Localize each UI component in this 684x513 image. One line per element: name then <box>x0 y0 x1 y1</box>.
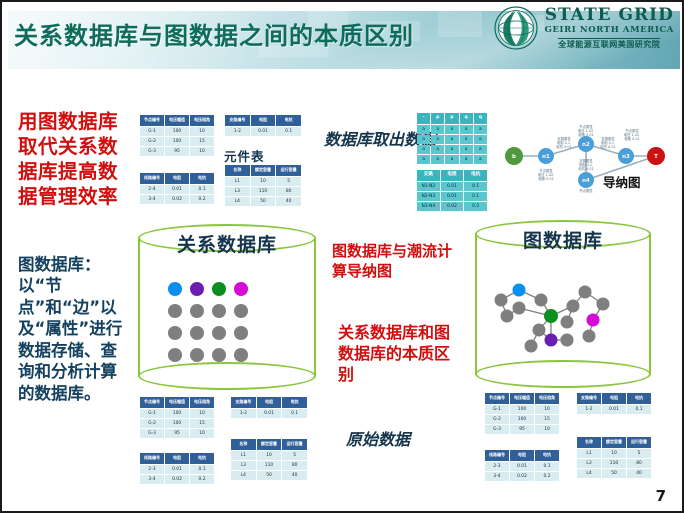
table-row: G-110010 <box>140 409 214 418</box>
table-bottom-left-branch-table: 线路编号电阻电抗2-30.010.13-40.020.2 <box>139 452 215 485</box>
table-cell: L3 <box>231 461 256 470</box>
table-cell: G-1 <box>140 127 164 136</box>
brand-division: GEIRI NORTH AMERICA <box>545 26 674 35</box>
table-cell: 10 <box>251 177 276 186</box>
table-row: L311080 <box>577 459 651 468</box>
table-header-cell: 额定容量 <box>602 437 626 448</box>
table-cell: a <box>431 155 444 164</box>
table-header-cell: 电抗 <box>276 115 301 126</box>
svg-text:T: T <box>654 154 658 160</box>
table-header-row: 名称额定容量运行容量 <box>577 437 651 448</box>
table-cell: a <box>474 155 487 164</box>
table-cell: L4 <box>231 471 256 480</box>
record-dot <box>234 326 248 340</box>
table-row: 2-30.010.1 <box>140 465 214 474</box>
table-header-row: -ppqq <box>417 113 487 124</box>
table-cell: L1 <box>577 449 601 458</box>
table-header-row: 支路编号电阻电抗 <box>577 393 651 404</box>
table-cell: 0.01 <box>441 182 464 191</box>
table-header-row: 线路编号电阻电抗 <box>140 453 214 464</box>
table-header-cell: 节点编号 <box>140 115 164 126</box>
table-row: G-39510 <box>485 425 559 434</box>
table-header-cell: - <box>417 113 430 124</box>
table-header-cell: 节点编号 <box>140 397 164 408</box>
table-cell: 0.01 <box>510 462 534 471</box>
table-cell: 40 <box>282 471 307 480</box>
table-header-cell: 电阻 <box>165 173 189 184</box>
table-bottom-right-node-table: 节点编号电压幅值电压相角G-110010G-210015G-39510 <box>484 392 560 435</box>
table-header-cell: 电抗 <box>464 170 487 181</box>
table-cell: 3-4 <box>140 475 164 484</box>
table-cell: 0.02 <box>441 202 464 211</box>
table-row: L1105 <box>577 449 651 458</box>
table-row: G-39510 <box>140 147 214 156</box>
table-cell: G-2 <box>140 137 164 146</box>
table-cell: 0.01 <box>257 409 282 418</box>
table-row: aaaaa <box>417 135 487 144</box>
table-header-row: 线路编号电阻电抗 <box>140 173 214 184</box>
table-header-cell: p <box>445 113 458 124</box>
record-dot <box>212 282 226 296</box>
table-cell: 100 <box>165 409 189 418</box>
table-cell: a <box>460 145 473 154</box>
table-cell: 5 <box>627 449 651 458</box>
table-bottom-right-component-table: 名称额定容量运行容量L1105L311080L45040 <box>576 436 652 479</box>
table-row: 3-40.020.2 <box>140 195 214 204</box>
table-cell: 100 <box>165 137 189 146</box>
table-header-cell: 支路编号 <box>225 115 250 126</box>
table-cell: 1-2 <box>577 405 601 414</box>
table-row: L1105 <box>231 451 307 460</box>
table-cell: 40 <box>627 469 651 478</box>
svg-text:电抗 0.01: 电抗 0.01 <box>600 144 615 149</box>
svg-text:n4: n4 <box>582 178 590 184</box>
graph-db-definition: 图数据库：以“节点”和“边”以及“属性”进行数据存储、查询和分析计算的数据库。 <box>18 254 132 404</box>
table-cell: L3 <box>577 459 601 468</box>
table-component-table: 名称额定容量运行容量L1105L311080L45040 <box>224 164 302 207</box>
cylinder-bottom-ellipse <box>138 362 316 390</box>
record-dot <box>190 348 204 362</box>
table-row: L311080 <box>231 461 307 470</box>
record-dot <box>168 282 182 296</box>
table-cell: N1-N2 <box>417 182 440 191</box>
table-header-cell: 运行容量 <box>627 437 651 448</box>
table-cell: a <box>445 145 458 154</box>
table-cell: 0.01 <box>602 405 626 414</box>
table-cell: a <box>417 135 430 144</box>
table-row: 1-20.010.1 <box>577 405 651 414</box>
table-header-cell: 电抗 <box>282 397 307 408</box>
table-cell: 15 <box>190 137 214 146</box>
table-cell: 10 <box>535 405 559 414</box>
table-header-cell: 电压相角 <box>535 393 559 404</box>
table-cell: a <box>445 135 458 144</box>
table-header-cell: 运行容量 <box>282 439 307 450</box>
table-cell: 0.1 <box>464 192 487 201</box>
table-row: 3-40.020.2 <box>485 472 559 481</box>
table-header-cell: 电压相角 <box>190 397 214 408</box>
record-dot-grid <box>168 282 248 362</box>
svg-text:n1: n1 <box>542 154 550 160</box>
table-cell: 0.2 <box>190 195 214 204</box>
table-cell: 2-3 <box>485 462 509 471</box>
table-header-cell: 名称 <box>225 165 250 176</box>
table-header-cell: 电抗 <box>190 453 214 464</box>
table-bottom-mid-branch-table: 支路编号电阻电抗1-20.010.1 <box>230 396 308 419</box>
left-headline: 用图数据库取代关系数据库提高数据管理效率 <box>18 110 130 210</box>
table-cell: 0.01 <box>251 127 276 136</box>
table-cell: N2-N3 <box>417 192 440 201</box>
table-cell: a <box>474 135 487 144</box>
state-grid-globe-icon <box>493 5 539 51</box>
table-bottom-right-branch-table-2: 支路编号电阻电抗1-20.010.1 <box>576 392 652 415</box>
table-header-cell: 支路编号 <box>231 397 256 408</box>
table-header-cell: 电抗 <box>535 450 559 461</box>
table-cell: 50 <box>602 469 626 478</box>
table-header-cell: 线路编号 <box>140 453 164 464</box>
brand-logo-text: STATE GRID GEIRI NORTH AMERICA 全球能源互联网美国… <box>545 7 674 49</box>
table-header-cell: 电阻 <box>257 397 282 408</box>
record-dot <box>212 348 226 362</box>
header-swatch <box>438 11 482 37</box>
table-top-left-branch-table: 线路编号电阻电抗2-40.010.13-40.020.2 <box>139 172 215 205</box>
table-bottom-left-node-table: 节点编号电压幅值电压相角G-110010G-210015G-39510 <box>139 396 215 439</box>
label-component-table: 元件表 <box>224 146 265 165</box>
table-cell: 1-2 <box>231 409 256 418</box>
table-cell: 40 <box>276 197 301 206</box>
table-cell: a <box>431 125 444 134</box>
table-header-row: 支路编号电阻电抗 <box>231 397 307 408</box>
brand-logo: STATE GRID GEIRI NORTH AMERICA 全球能源互联网美国… <box>493 5 674 51</box>
table-bottom-mid-component-table: 名称额定容量运行容量L1105L311080L45040 <box>230 438 308 481</box>
svg-text:相角 0.01: 相角 0.01 <box>538 176 553 181</box>
table-header-cell: 运行容量 <box>276 165 301 176</box>
table-cell: 110 <box>257 461 282 470</box>
table-row: 2-40.010.1 <box>140 185 214 194</box>
table-row: 2-30.010.1 <box>485 462 559 471</box>
table-cell: 10 <box>190 409 214 418</box>
table-cell: 5 <box>282 451 307 460</box>
table-cell: a <box>460 135 473 144</box>
table-cell: 10 <box>257 451 282 460</box>
table-bottom-right-branch-table: 线路编号电阻电抗2-30.010.13-40.020.2 <box>484 449 560 482</box>
record-dot <box>212 326 226 340</box>
table-header-cell: p <box>431 113 444 124</box>
table-row: G-210015 <box>140 419 214 428</box>
table-cell: L4 <box>577 469 601 478</box>
table-header-cell: 线路编号 <box>140 173 164 184</box>
table-cell: 110 <box>602 459 626 468</box>
table-cell: 50 <box>257 471 282 480</box>
table-cell: 0.02 <box>165 195 189 204</box>
table-header-cell: 支路编号 <box>577 393 601 404</box>
table-cell: 100 <box>165 127 189 136</box>
table-cell: a <box>417 155 430 164</box>
svg-text:n2: n2 <box>582 142 590 148</box>
table-header-cell: 电阻 <box>165 453 189 464</box>
brand-name: STATE GRID <box>545 7 674 24</box>
table-row: L45040 <box>225 197 301 206</box>
table-header-cell: 线路编号 <box>485 450 509 461</box>
svg-text:电抗 0.01: 电抗 0.01 <box>578 166 593 171</box>
svg-text:相角 0.01: 相角 0.01 <box>624 136 639 141</box>
table-header-cell: 电阻 <box>251 115 276 126</box>
table-top-mid-branch-table: 支路编号电阻电抗1-20.010.1 <box>224 114 302 137</box>
table-cell: 0.1 <box>190 465 214 474</box>
graph-database-title: 图数据库 <box>475 226 651 253</box>
table-cell: 15 <box>535 415 559 424</box>
table-cell: a <box>474 125 487 134</box>
svg-text:n3: n3 <box>622 154 630 160</box>
table-row: 1-20.010.1 <box>231 409 307 418</box>
table-header-cell: 电压幅值 <box>165 397 189 408</box>
table-header-cell: 电压相角 <box>190 115 214 126</box>
table-row: aaaaa <box>417 125 487 134</box>
table-header-cell: 名称 <box>231 439 256 450</box>
table-cell: 0.1 <box>627 405 651 414</box>
table-cell: 100 <box>510 415 534 424</box>
table-row: G-210015 <box>140 137 214 146</box>
table-cell: 0.1 <box>282 409 307 418</box>
record-dot <box>234 348 248 362</box>
table-row: G-110010 <box>485 405 559 414</box>
record-dot <box>212 304 226 318</box>
table-cell: 0.1 <box>190 185 214 194</box>
record-dot <box>168 304 182 318</box>
table-cell: 80 <box>627 459 651 468</box>
table-header-row: 节点编号电压幅值电压相角 <box>485 393 559 404</box>
table-cell: 100 <box>510 405 534 414</box>
table-cell: 0.1 <box>276 127 301 136</box>
table-header-cell: 节点编号 <box>485 393 509 404</box>
svg-text:b: b <box>512 154 516 160</box>
table-cell: 0.01 <box>165 185 189 194</box>
record-dot <box>190 282 204 296</box>
table-row: G-110010 <box>140 127 214 136</box>
table-row: L45040 <box>231 471 307 480</box>
graph-database-network-diagram <box>489 278 639 370</box>
table-header-row: 线路编号电阻电抗 <box>485 450 559 461</box>
table-cell: 0.2 <box>535 472 559 481</box>
table-cell: 1-2 <box>225 127 250 136</box>
table-cell: 10 <box>190 147 214 156</box>
record-dot <box>234 282 248 296</box>
table-teal-branch-table: 支路电阻电抗N1-N20.010.1N2-N30.010.1N3-N40.020… <box>416 169 488 212</box>
table-cell: 95 <box>165 147 189 156</box>
table-top-left-node-table: 节点编号电压幅值电压相角G-110010G-210015G-39510 <box>139 114 215 157</box>
table-cell: 2-4 <box>140 185 164 194</box>
svg-text:节点属性: 节点属性 <box>579 188 593 193</box>
table-cell: a <box>417 145 430 154</box>
table-header-cell: 电阻 <box>602 393 626 404</box>
table-cell: 0.2 <box>464 202 487 211</box>
table-cell: 10 <box>535 425 559 434</box>
table-cell: 110 <box>251 187 276 196</box>
slide-canvas: 关系数据库与图数据之间的本质区别 STATE GRID GEIRI NORTH … <box>0 0 684 513</box>
table-cell: G-1 <box>485 405 509 414</box>
brand-name-chinese: 全球能源互联网美国研究院 <box>558 38 660 49</box>
table-row: 1-20.010.1 <box>225 127 301 136</box>
table-header-row: 节点编号电压幅值电压相角 <box>140 397 214 408</box>
graph-database-cylinder: 图数据库 <box>475 220 651 388</box>
table-header-cell: 电压幅值 <box>165 115 189 126</box>
record-dot <box>190 326 204 340</box>
table-cell: 5 <box>276 177 301 186</box>
table-cell: 100 <box>165 419 189 428</box>
table-row: N2-N30.010.1 <box>417 192 487 201</box>
table-header-cell: 名称 <box>577 437 601 448</box>
table-header-cell: 支路 <box>417 170 440 181</box>
label-raw-data: 原始数据 <box>346 430 410 450</box>
table-row: L45040 <box>577 469 651 478</box>
table-cell: a <box>445 155 458 164</box>
table-cell: G-2 <box>485 415 509 424</box>
table-row: 3-40.020.2 <box>140 475 214 484</box>
table-header-cell: 电压幅值 <box>510 393 534 404</box>
table-cell: a <box>417 125 430 134</box>
table-row: N1-N20.010.1 <box>417 182 487 191</box>
table-teal-matrix-table: -ppqqaaaaaaaaaaaaaaaaaaaa <box>416 112 488 165</box>
table-cell: G-3 <box>485 425 509 434</box>
record-dot <box>234 304 248 318</box>
table-row: G-210015 <box>485 415 559 424</box>
table-header-cell: q <box>474 113 487 124</box>
table-cell: G-2 <box>140 419 164 428</box>
record-dot <box>168 348 182 362</box>
table-cell: a <box>431 145 444 154</box>
table-header-cell: q <box>460 113 473 124</box>
table-header-row: 节点编号电压幅值电压相角 <box>140 115 214 126</box>
table-row: aaaaa <box>417 145 487 154</box>
table-cell: 15 <box>190 419 214 428</box>
table-cell: a <box>445 125 458 134</box>
table-cell: a <box>460 125 473 134</box>
table-cell: 95 <box>165 429 189 438</box>
table-cell: 3-4 <box>485 472 509 481</box>
table-header-row: 名称额定容量运行容量 <box>231 439 307 450</box>
table-row: N3-N40.020.2 <box>417 202 487 211</box>
table-cell: 0.1 <box>535 462 559 471</box>
table-cell: 10 <box>190 429 214 438</box>
table-row: aaaaa <box>417 155 487 164</box>
table-cell: 0.01 <box>165 465 189 474</box>
table-cell: 10 <box>190 127 214 136</box>
table-header-row: 支路编号电阻电抗 <box>225 115 301 126</box>
table-cell: 80 <box>282 461 307 470</box>
table-row: L1105 <box>225 177 301 186</box>
table-cell: 10 <box>602 449 626 458</box>
relational-database-title: 关系数据库 <box>138 230 316 257</box>
table-cell: a <box>460 155 473 164</box>
table-header-cell: 额定容量 <box>257 439 282 450</box>
table-cell: 2-3 <box>140 465 164 474</box>
table-cell: L1 <box>225 177 250 186</box>
table-header-row: 支路电阻电抗 <box>417 170 487 181</box>
table-cell: 0.02 <box>165 475 189 484</box>
svg-text:电抗 0.01: 电抗 0.01 <box>556 144 571 149</box>
page-title: 关系数据库与图数据之间的本质区别 <box>14 16 414 51</box>
table-header-cell: 电抗 <box>627 393 651 404</box>
table-cell: L1 <box>231 451 256 460</box>
table-cell: G-1 <box>140 409 164 418</box>
table-cell: a <box>431 135 444 144</box>
table-cell: L3 <box>225 187 250 196</box>
table-cell: a <box>474 145 487 154</box>
label-graph-and-flow: 图数据库与潮流计算导纳图 <box>332 242 460 282</box>
table-cell: L4 <box>225 197 250 206</box>
table-cell: 95 <box>510 425 534 434</box>
table-cell: 0.01 <box>441 192 464 201</box>
record-dot <box>168 326 182 340</box>
table-header-row: 名称额定容量运行容量 <box>225 165 301 176</box>
table-header-cell: 电阻 <box>510 450 534 461</box>
table-header-cell: 电阻 <box>441 170 464 181</box>
table-row: G-39510 <box>140 429 214 438</box>
table-cell: G-3 <box>140 429 164 438</box>
table-cell: G-3 <box>140 147 164 156</box>
record-dot <box>190 304 204 318</box>
table-cell: 50 <box>251 197 276 206</box>
table-header-cell: 额定容量 <box>251 165 276 176</box>
table-cell: 3-4 <box>140 195 164 204</box>
page-number: 7 <box>656 487 666 505</box>
table-cell: 0.2 <box>190 475 214 484</box>
table-header-cell: 电抗 <box>190 173 214 184</box>
label-essential-difference: 关系数据库和图数据库的本质区别 <box>338 322 462 385</box>
table-cell: N3-N4 <box>417 202 440 211</box>
table-cell: 80 <box>276 187 301 196</box>
table-cell: 0.1 <box>464 182 487 191</box>
admittance-network-graph: 支路属性电阻 0.1,电抗 0.01 支路属性电阻 0.1,电抗 0.01 节点… <box>494 106 674 194</box>
table-cell: 0.02 <box>510 472 534 481</box>
table-row: L311080 <box>225 187 301 196</box>
relational-database-cylinder: 关系数据库 <box>138 224 316 390</box>
